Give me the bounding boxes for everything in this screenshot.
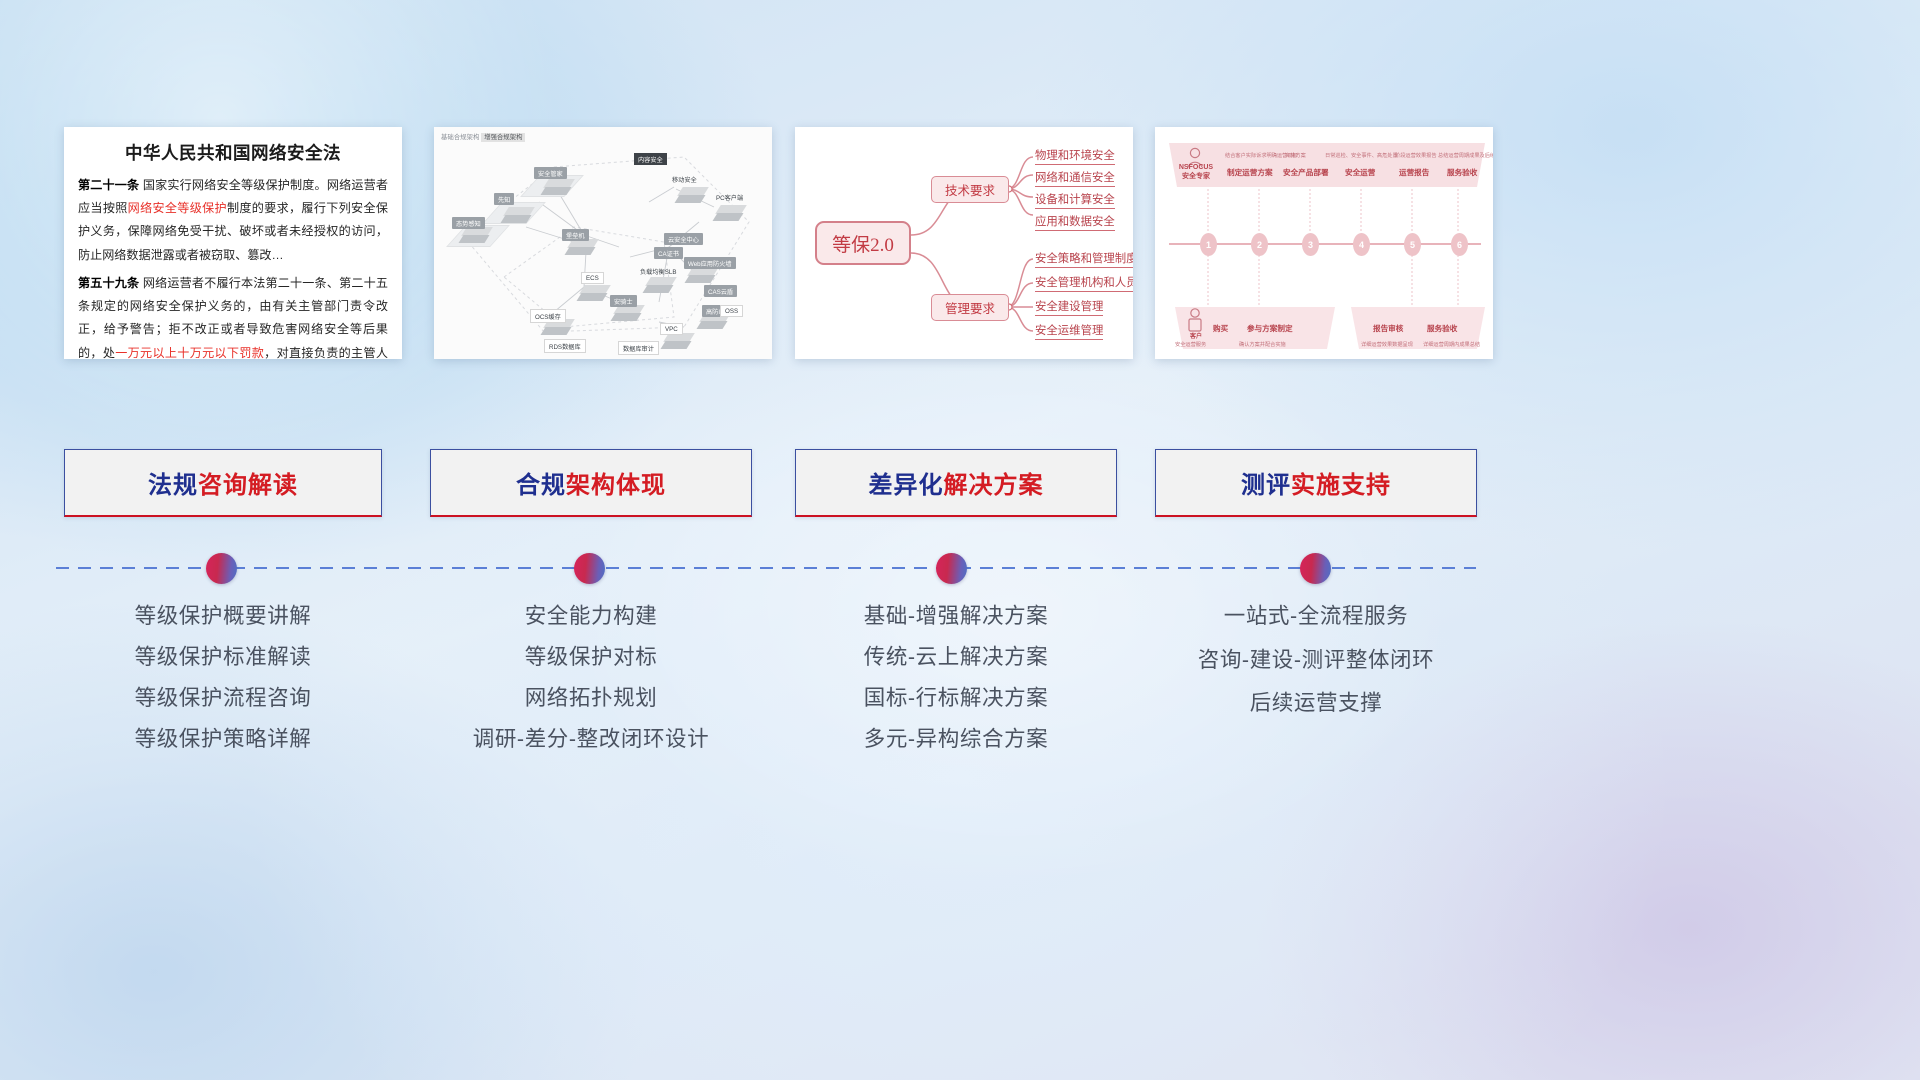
node-label-17: 移动安全 [672,175,697,184]
node-3d-neirong [680,187,706,204]
pillar-button-label-4: 测评实施支持 [1241,465,1391,500]
node-label-19: 云安全中心 [664,233,703,245]
node-label-0: 态势感知 [452,217,485,229]
node-3d-anquanguanjia [546,179,572,196]
node-3d-slb [648,277,674,294]
customer-caption-2: 详细运营效果数据呈现 [1361,341,1413,348]
timeline-step-5[interactable]: 5 [1404,233,1421,256]
node-3d-waf [690,267,716,284]
timeline-node-3[interactable] [936,553,967,584]
law-body: 中华人民共和国网络安全法 第二十一条 国家实行网络安全等级保护制度。网络运营者应… [64,127,402,359]
pillar-button-regulation-consulting[interactable]: 法规咨询解读 [64,449,382,517]
pillar-button-label-3: 差异化解决方案 [869,465,1044,500]
timeline-node-4[interactable] [1300,553,1331,584]
node-3d-ecs [582,285,608,302]
list-item: 后续运营支撑 [1155,693,1477,715]
pillar-button-differentiated-solution[interactable]: 差异化解决方案 [795,449,1117,517]
pillar-button-label-1: 法规咨询解读 [148,465,298,500]
step-label-3: 运营报告 [1399,167,1429,178]
node-label-9: 负载均衡SLB [640,267,676,276]
law-title: 中华人民共和国网络安全法 [78,140,388,165]
node-label-8: 数据库审计 [618,341,659,355]
mindmap-leaf-t1: 网络和通信安全 [1035,169,1115,187]
customer-action-0: 购买 [1213,323,1228,334]
customer-action-3: 服务验收 [1427,323,1457,334]
mindmap-root-node[interactable]: 等保2.0 [815,221,911,265]
law-article-21: 第二十一条 国家实行网络安全等级保护制度。网络运营者应当按照网络安全等级保护制度… [78,174,388,267]
node-label-6: OCS缓存 [530,309,566,323]
step-caption-3: 阶段运营效果报告 [1395,152,1437,159]
step-caption-1: 实施方案 [1285,152,1306,159]
article-21-highlight: 网络安全等级保护 [128,201,227,215]
list-item: 安全能力构建 [430,606,752,628]
article-59-highlight-1: 一万元以上十万元以下罚款 [115,346,264,359]
node-label-18: PC客户端 [716,193,743,202]
node-label-5: 安骑士 [610,295,637,307]
feature-list-4: 一站式-全流程服务 咨询-建设-测评整体闭环 后续运营支撑 [1155,606,1477,737]
mindmap-leaf-t2: 设备和计算安全 [1035,191,1115,209]
mindmap-canvas: 等保2.0 技术要求 管理要求 物理和环境安全 网络和通信安全 设备和计算安全 … [795,127,1133,359]
node-label-4: ECS [581,272,604,284]
feature-list-1: 等级保护概要讲解 等级保护标准解读 等级保护流程咨询 等级保护策略详解 [64,606,382,770]
node-3d-anqishi [616,305,642,322]
node-label-1: 先知 [494,193,514,205]
feature-list-2: 安全能力构建 等级保护对标 网络拓扑规划 调研-差分-整改闭环设计 [430,606,752,770]
timeline-step-3[interactable]: 3 [1302,233,1319,256]
list-item: 调研-差分-整改闭环设计 [430,729,752,751]
timeline-step-6[interactable]: 6 [1451,233,1468,256]
mindmap-branch-technical[interactable]: 技术要求 [931,176,1009,203]
article-21-label: 第二十一条 [78,178,139,192]
list-item: 等级保护标准解读 [64,647,382,669]
mindmap-leaf-m3: 安全运维管理 [1035,322,1103,340]
mindmap-leaf-m0: 安全策略和管理制度 [1035,250,1133,268]
list-item: 等级保护对标 [430,647,752,669]
feature-list-3: 基础-增强解决方案 传统-云上解决方案 国标-行标解决方案 多元-异构综合方案 [795,606,1117,770]
pillar-button-compliance-architecture[interactable]: 合规架构体现 [430,449,752,517]
cards-row: 中华人民共和国网络安全法 第二十一条 国家实行网络安全等级保护制度。网络运营者应… [0,0,1920,400]
article-59-label: 第五十九条 [78,276,139,290]
step-label-2: 安全运营 [1345,167,1375,178]
node-label-13: VPC [660,323,683,335]
list-item: 咨询-建设-测评整体闭环 [1155,650,1477,672]
customer-caption-1: 确认方案并配合实施 [1239,341,1286,348]
node-3d-xianzhi [506,207,532,224]
node-label-2: 安全管家 [534,167,567,179]
node-label-14: OSS [720,305,743,317]
list-item: 等级保护概要讲解 [64,606,382,628]
list-item: 多元-异构综合方案 [795,729,1117,751]
node-label-16: 内容安全 [634,153,667,165]
mindmap-leaf-m2: 安全建设管理 [1035,298,1103,316]
step-caption-4: 总结运营周期成果及后续优化建议 [1438,152,1493,159]
list-item: 基础-增强解决方案 [795,606,1117,628]
node-label-7: RDS数据库 [544,339,586,353]
step-label-4: 服务验收 [1447,167,1477,178]
mindmap-branch-management[interactable]: 管理要求 [931,294,1009,321]
list-item: 一站式-全流程服务 [1155,606,1477,628]
law-article-59: 第五十九条 网络运营者不履行本法第二十一条、第二十五条规定的网络安全保护义务的，… [78,272,388,359]
timeline-step-4[interactable]: 4 [1353,233,1370,256]
list-item: 等级保护策略详解 [64,729,382,751]
customer-role-label: 客户 [1175,333,1217,341]
card-service-timeline[interactable]: NSFOCUS 安全专家 客户 结合客户实际诉求明确运营目标 实施方案 日常巡检… [1155,127,1493,359]
node-3d-baoleiji [570,239,596,256]
pillar-button-label-2: 合规架构体现 [516,465,666,500]
timeline-node-2[interactable] [574,553,605,584]
timeline-canvas: NSFOCUS 安全专家 客户 结合客户实际诉求明确运营目标 实施方案 日常巡检… [1155,127,1493,359]
card-mind-map[interactable]: 等保2.0 技术要求 管理要求 物理和环境安全 网络和通信安全 设备和计算安全 … [795,127,1133,359]
list-item: 网络拓扑规划 [430,688,752,710]
node-label-10: Web应用防火墙 [684,257,736,269]
node-3d-vpc [666,333,692,350]
step-caption-2: 日常巡检、安全事件、高危处置 [1325,152,1398,159]
architecture-canvas: 基础合规架构 增强合规架构 [434,127,772,359]
step-label-0: 制定运营方案 [1227,167,1273,178]
customer-caption-3: 详细运营周期内成果总结 [1423,341,1480,348]
node-3d-pc [718,205,744,222]
pillar-button-evaluation-support[interactable]: 测评实施支持 [1155,449,1477,517]
list-item: 国标-行标解决方案 [795,688,1117,710]
mindmap-leaf-m1: 安全管理机构和人员 [1035,274,1133,292]
node-label-15: CA证书 [654,247,683,259]
mindmap-leaf-t3: 应用和数据安全 [1035,213,1115,231]
step-label-1: 安全产品部署 [1283,167,1329,178]
customer-action-2: 报告审核 [1373,323,1403,334]
mindmap-leaf-t0: 物理和环境安全 [1035,147,1115,165]
card-architecture-diagram[interactable]: 基础合规架构 增强合规架构 [434,127,772,359]
card-law-text[interactable]: 中华人民共和国网络安全法 第二十一条 国家实行网络安全等级保护制度。网络运营者应… [64,127,402,359]
timeline-dashed-axis [56,567,1476,569]
node-label-3: 堡垒机 [562,229,589,241]
nsfocus-expert-brand: NSFOCUS 安全专家 [1173,163,1219,182]
timeline-node-1[interactable] [206,553,237,584]
timeline-step-1[interactable]: 1 [1200,233,1217,256]
node-3d-sensing [464,227,490,244]
customer-action-1: 参与方案制定 [1247,323,1293,334]
list-item: 等级保护流程咨询 [64,688,382,710]
timeline-step-2[interactable]: 2 [1251,233,1268,256]
customer-caption-0: 安全运营服务 [1175,341,1206,348]
node-label-11: CAS云盾 [704,285,737,297]
list-item: 传统-云上解决方案 [795,647,1117,669]
